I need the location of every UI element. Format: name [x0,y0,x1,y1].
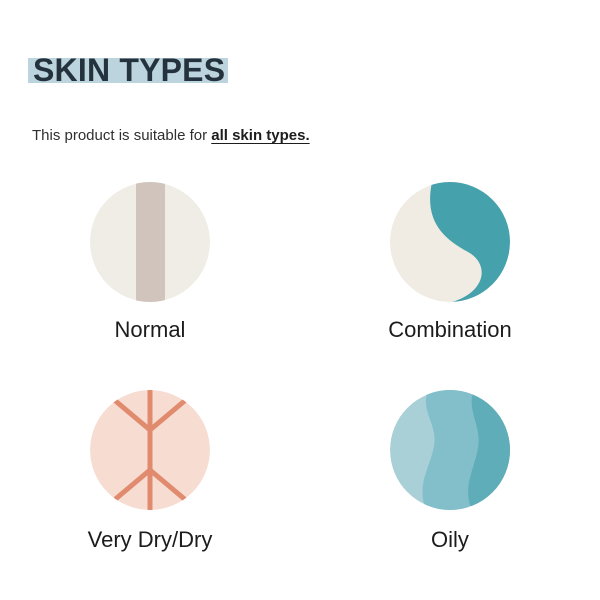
page-title-wrap: SKIN TYPES [28,52,228,88]
skin-type-label-very-dry-dry: Very Dry/Dry [88,526,213,554]
dry-cracks-icon [90,390,210,510]
skin-type-item-normal[interactable]: Normal [0,182,300,390]
skin-types-row-top: Normal Combination [0,182,600,390]
skin-type-label-oily: Oily [431,526,469,554]
skin-type-label-normal: Normal [115,316,186,344]
skin-types-row-bottom: Very Dry/Dry Oily [0,390,600,590]
subtitle-lead: This product is suitable for [32,127,211,144]
subtitle: This product is suitable for all skin ty… [32,126,310,146]
page-header: SKIN TYPES [28,52,228,88]
skin-types-infographic: SKIN TYPES This product is suitable for … [0,0,600,600]
oily-waves-icon [390,390,510,510]
skin-type-item-combination[interactable]: Combination [300,182,600,390]
combination-yinyang-icon [390,182,510,302]
skin-type-item-very-dry-dry[interactable]: Very Dry/Dry [0,390,300,590]
page-title: SKIN TYPES [28,52,228,88]
skin-type-item-oily[interactable]: Oily [300,390,600,590]
skin-types-grid: Normal Combination [0,182,600,590]
subtitle-emphasis: all skin types. [211,127,309,144]
skin-type-label-combination: Combination [388,316,512,344]
normal-tzone-icon [90,182,210,302]
